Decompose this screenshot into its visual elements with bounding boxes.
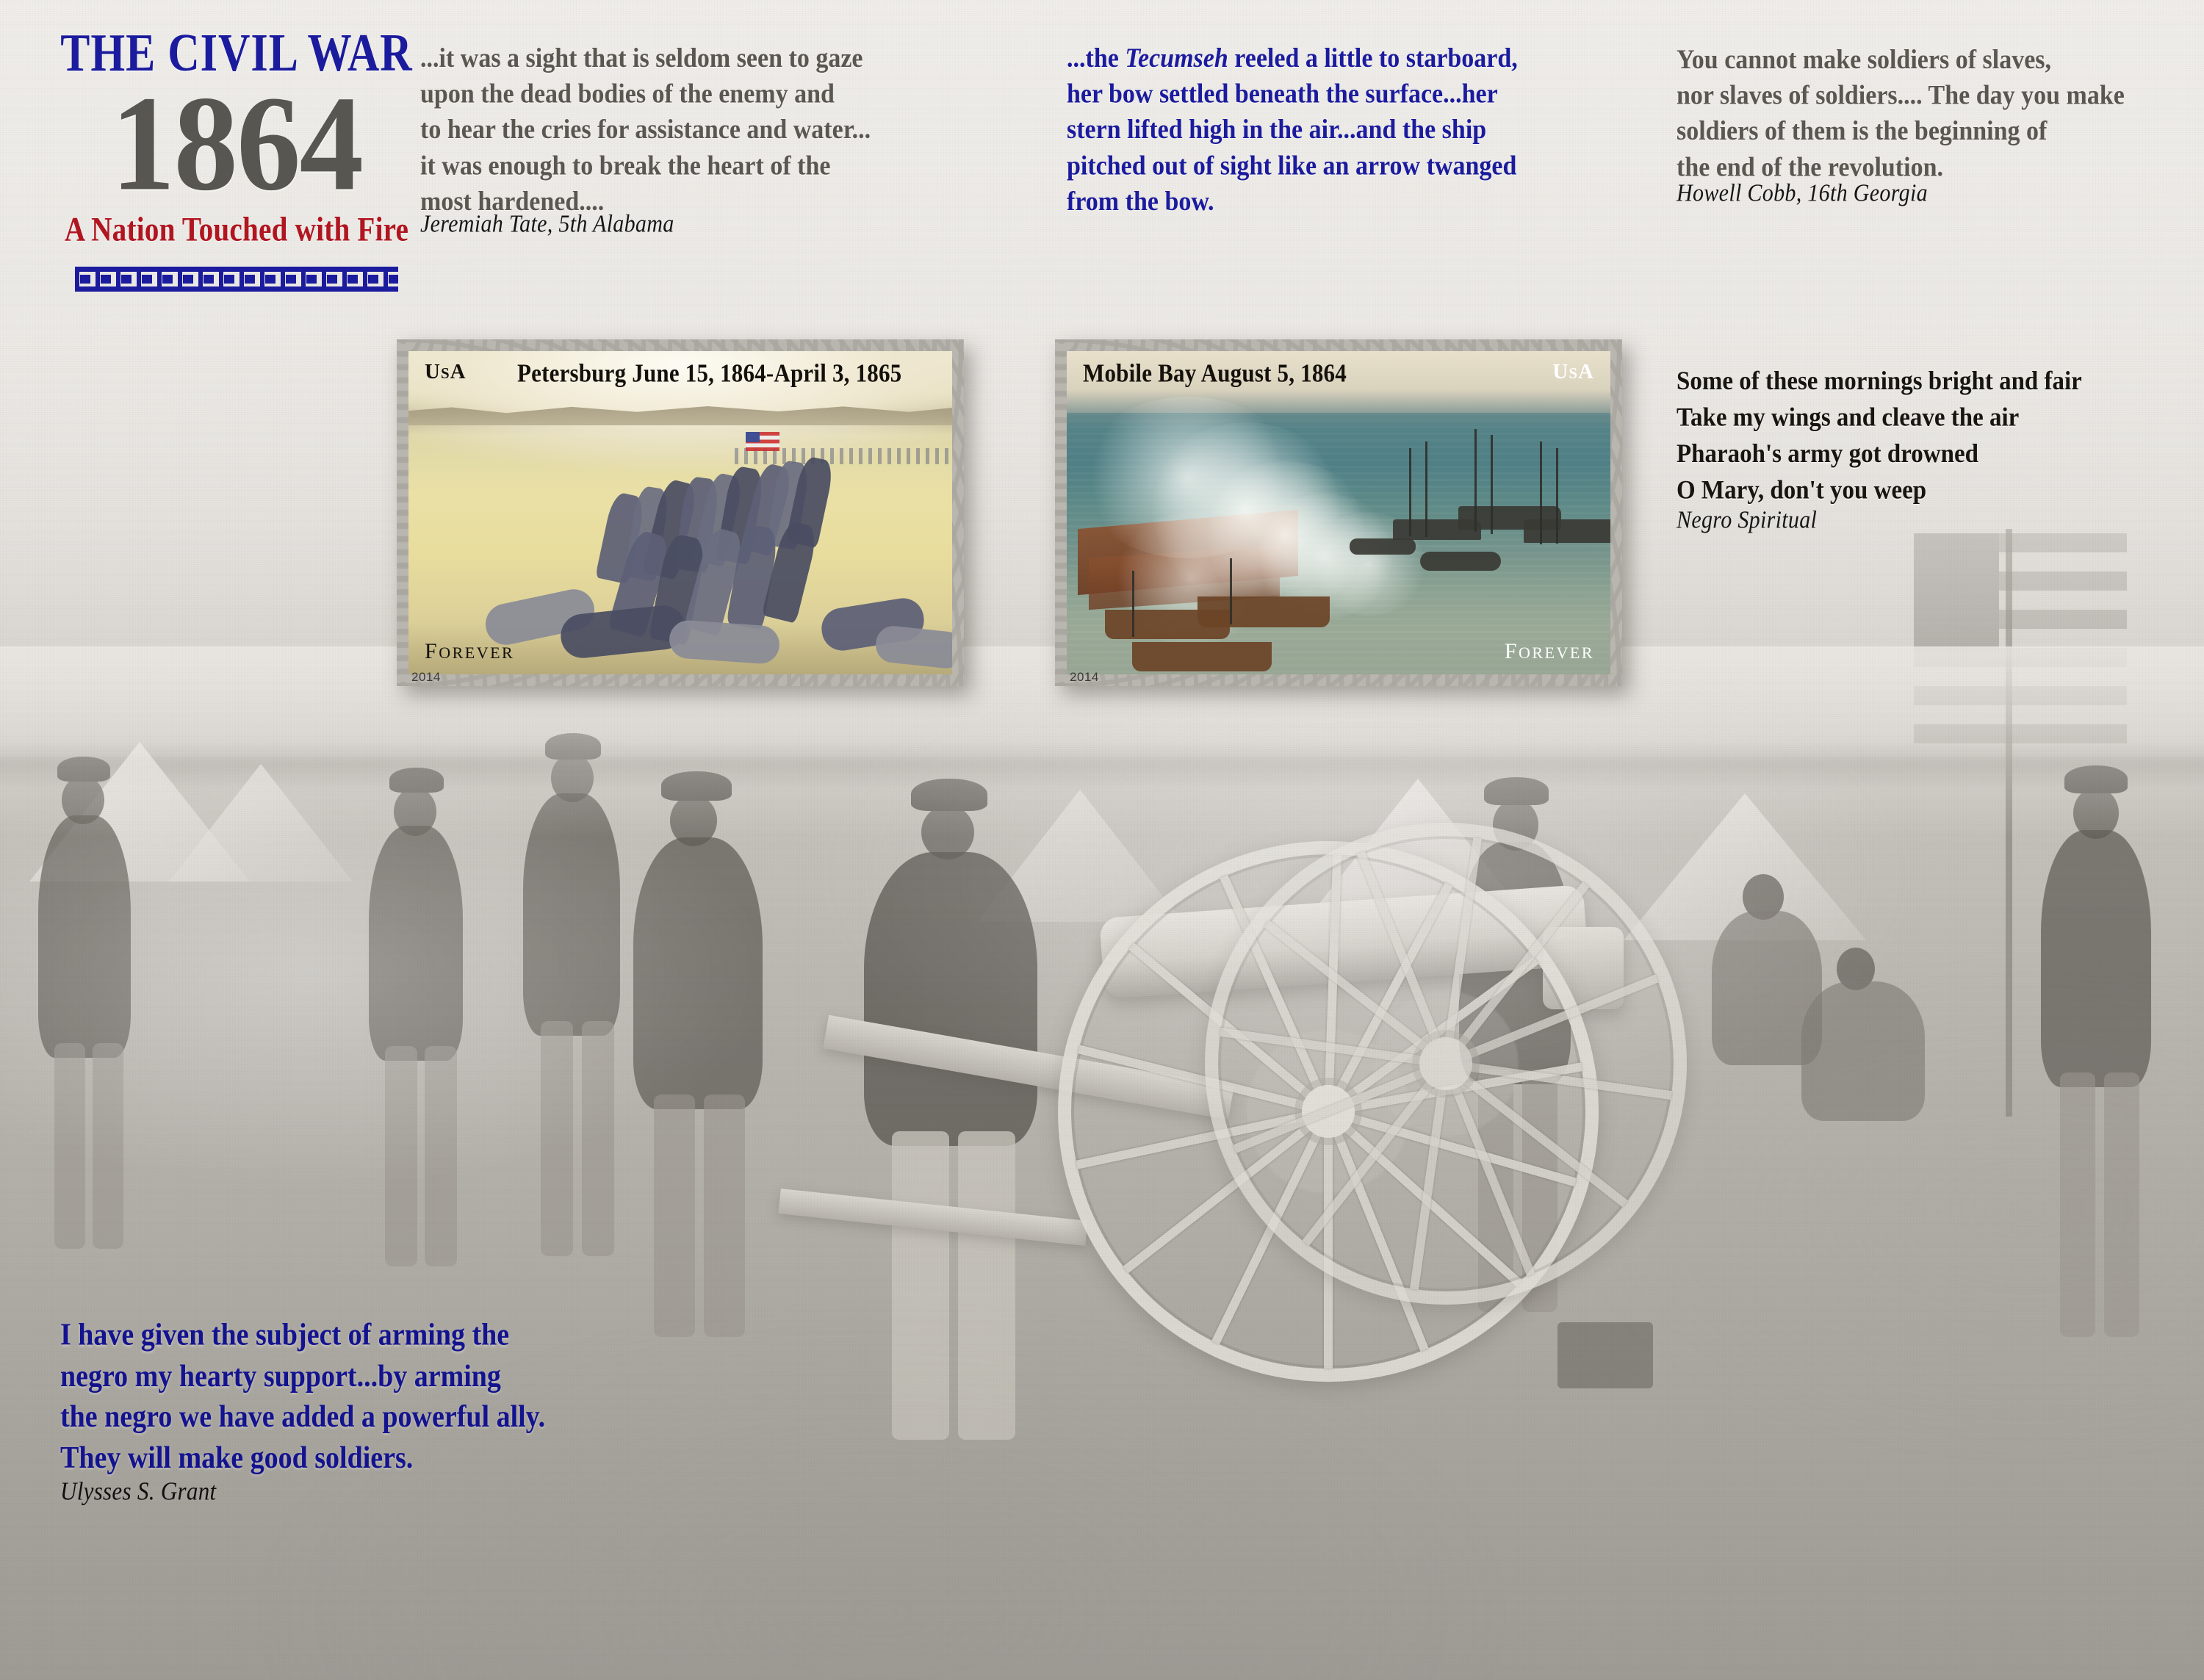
stamp-image-petersburg: Petersburg June 15, 1864-April 3, 1865 U… — [408, 351, 952, 674]
masthead-year: 1864 — [46, 81, 428, 206]
stamp-title-petersburg: Petersburg June 15, 1864-April 3, 1865 — [517, 358, 901, 388]
quote-tecumseh: ...the Tecumseh reeled a little to starb… — [1067, 41, 1654, 203]
stamp-mobile-bay[interactable]: Mobile Bay August 5, 1864 USA FOREVER 20… — [1055, 339, 1622, 686]
stamp-denomination-mobile-bay: FOREVER — [1505, 639, 1594, 664]
masthead-subtitle: A Nation Touched with Fire — [49, 212, 424, 246]
quote-line: ...the Tecumseh reeled a little to starb… — [1067, 41, 1654, 77]
quote-attribution: Howell Cobb, 16th Georgia — [1677, 178, 2175, 209]
stamp-country-mobile-bay: USA — [1552, 360, 1594, 384]
quote-text: ...it was a sight that is seldom seen to… — [420, 41, 1001, 220]
stamp-image-mobile-bay: Mobile Bay August 5, 1864 USA FOREVER — [1067, 351, 1610, 674]
quote-text: ...the Tecumseh reeled a little to starb… — [1067, 41, 1654, 220]
masthead: THE CIVIL WAR 1864 A Nation Touched with… — [46, 26, 428, 292]
ship-name-tecumseh: Tecumseh — [1125, 43, 1228, 73]
stamp-year-mobile-bay: 2014 — [1070, 670, 1099, 685]
stamp-petersburg[interactable]: Petersburg June 15, 1864-April 3, 1865 U… — [397, 339, 964, 686]
quote-tate: ...it was a sight that is seldom seen to… — [420, 41, 1001, 237]
stamp-title-mobile-bay: Mobile Bay August 5, 1864 — [1083, 358, 1347, 388]
quote-spiritual: Some of these mornings bright and fair T… — [1677, 364, 2191, 533]
quote-cobb: You cannot make soldiers of slaves, nor … — [1677, 43, 2191, 206]
stamp-country-petersburg: USA — [425, 360, 467, 384]
stamp-artwork — [1067, 351, 1610, 674]
quote-text: Some of these mornings bright and fair T… — [1677, 364, 2191, 508]
quote-text: You cannot make soldiers of slaves, nor … — [1677, 43, 2191, 185]
quote-grant: I have given the subject of arming the n… — [60, 1315, 751, 1504]
stamp-year-petersburg: 2014 — [411, 670, 441, 685]
ornamental-rule — [75, 267, 398, 292]
stamp-denomination-petersburg: FOREVER — [425, 639, 514, 664]
stamp-artwork — [408, 351, 952, 674]
stamp-souvenir-sheet: THE CIVIL WAR 1864 A Nation Touched with… — [0, 0, 2204, 1680]
quote-attribution: Ulysses S. Grant — [60, 1475, 730, 1507]
quote-text: I have given the subject of arming the n… — [60, 1315, 751, 1478]
quote-attribution: Negro Spiritual — [1677, 505, 2175, 536]
quote-attribution: Jeremiah Tate, 5th Alabama — [420, 209, 983, 239]
